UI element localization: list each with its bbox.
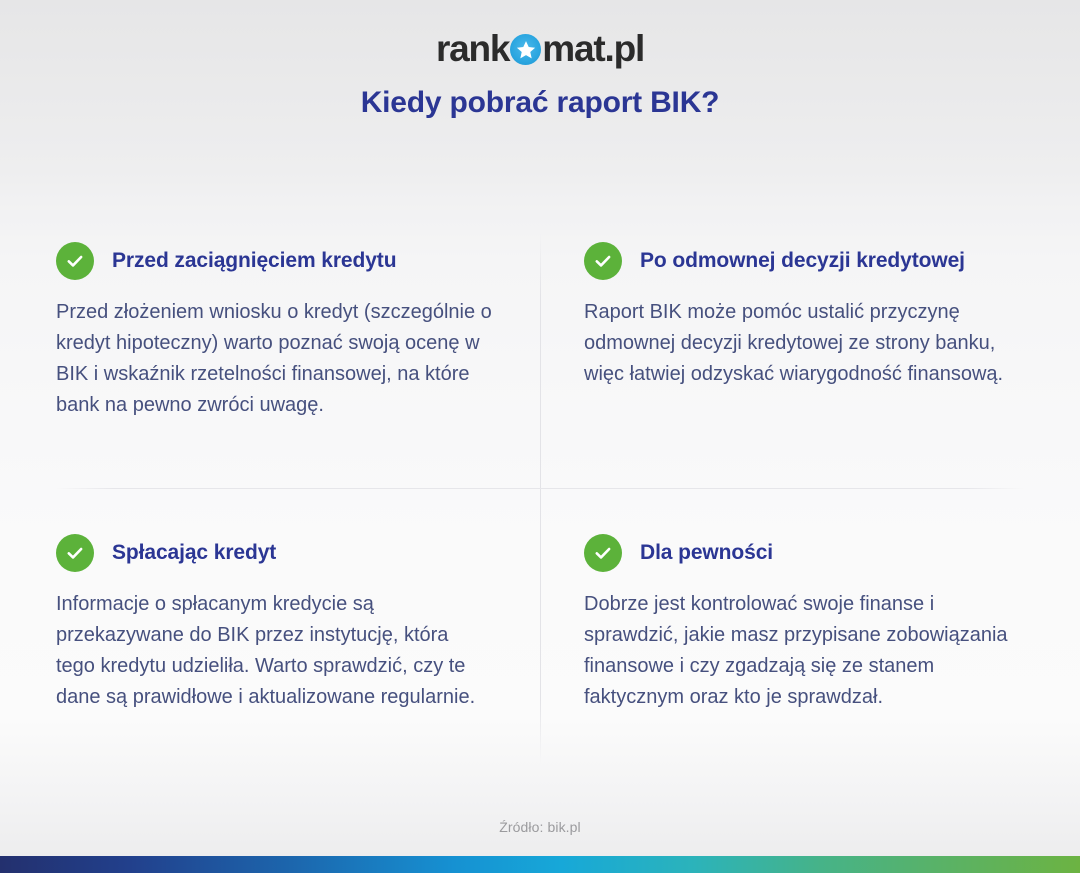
rankomat-logo[interactable]: rank mat.pl <box>436 30 644 67</box>
logo-text-first: rank <box>436 30 509 67</box>
card-dla-pewnosci: Dla pewności Dobrze jest kontrolować swo… <box>540 488 1024 780</box>
card-body: Dobrze jest kontrolować swoje finanse i … <box>584 589 1024 713</box>
check-circle-icon <box>56 242 94 280</box>
source-note: Źródło: bik.pl <box>0 819 1080 835</box>
check-circle-icon <box>56 534 94 572</box>
page-title: Kiedy pobrać raport BIK? <box>0 86 1080 120</box>
card-header: Po odmownej decyzji kredytowej <box>584 242 1024 280</box>
card-header: Spłacając kredyt <box>56 534 492 572</box>
card-body: Przed złożeniem wniosku o kredyt (szczeg… <box>56 297 492 421</box>
check-circle-icon <box>584 242 622 280</box>
card-header: Przed zaciągnięciem kredytu <box>56 242 492 280</box>
header: rank mat.pl Kiedy pobrać raport BIK? <box>0 0 1080 120</box>
card-splacajac-kredyt: Spłacając kredyt Informacje o spłacanym … <box>56 488 540 780</box>
card-grid: Przed zaciągnięciem kredytu Przed złożen… <box>0 196 1080 796</box>
check-circle-icon <box>584 534 622 572</box>
card-body: Informacje o spłacanym kredycie są przek… <box>56 589 492 713</box>
accent-gradient-bar <box>0 856 1080 873</box>
card-title: Spłacając kredyt <box>112 540 276 565</box>
star-in-circle-icon <box>510 34 541 65</box>
card-title: Dla pewności <box>640 540 773 565</box>
infographic-root: rank mat.pl Kiedy pobrać raport BIK? <box>0 0 1080 873</box>
card-body: Raport BIK może pomóc ustalić przyczynę … <box>584 297 1024 390</box>
card-przed-zaciagnieciem-kredytu: Przed zaciągnięciem kredytu Przed złożen… <box>56 196 540 488</box>
logo-text-second: mat.pl <box>542 30 644 67</box>
card-title: Po odmownej decyzji kredytowej <box>640 248 965 273</box>
card-header: Dla pewności <box>584 534 1024 572</box>
content-panel: Przed zaciągnięciem kredytu Przed złożen… <box>0 196 1080 796</box>
card-po-odmownej-decyzji-kredytowej: Po odmownej decyzji kredytowej Raport BI… <box>540 196 1024 488</box>
card-title: Przed zaciągnięciem kredytu <box>112 248 396 273</box>
